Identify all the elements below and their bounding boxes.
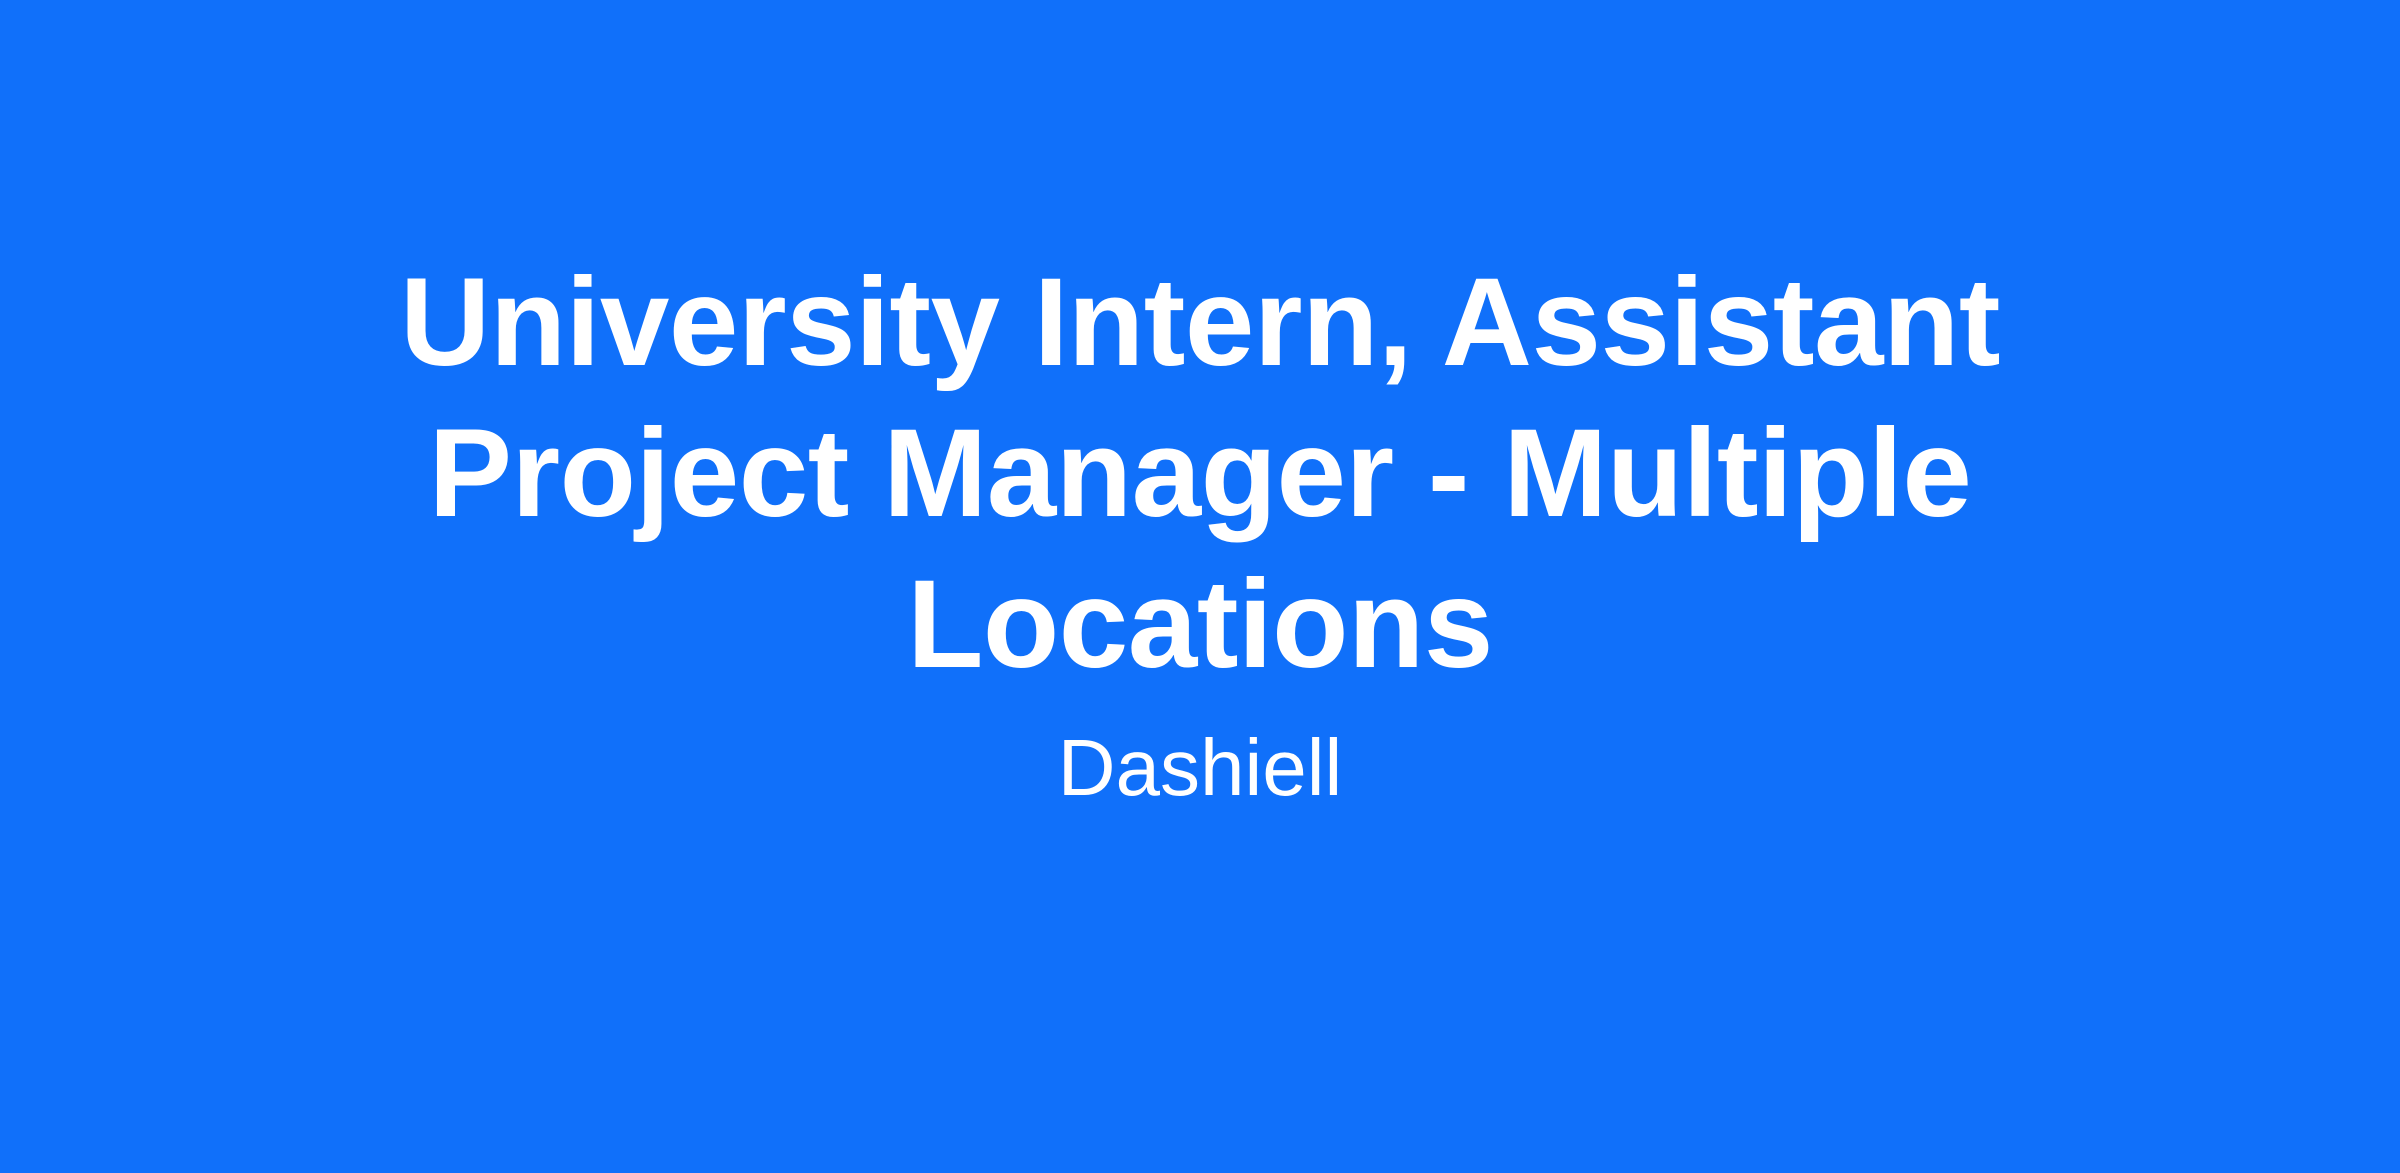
title-card-slide: University Intern, Assistant Project Man… bbox=[0, 0, 2400, 1173]
page-title: University Intern, Assistant Project Man… bbox=[400, 247, 2000, 700]
title-text-block: University Intern, Assistant Project Man… bbox=[400, 0, 2000, 816]
page-subtitle: Dashiell bbox=[1058, 720, 1343, 816]
